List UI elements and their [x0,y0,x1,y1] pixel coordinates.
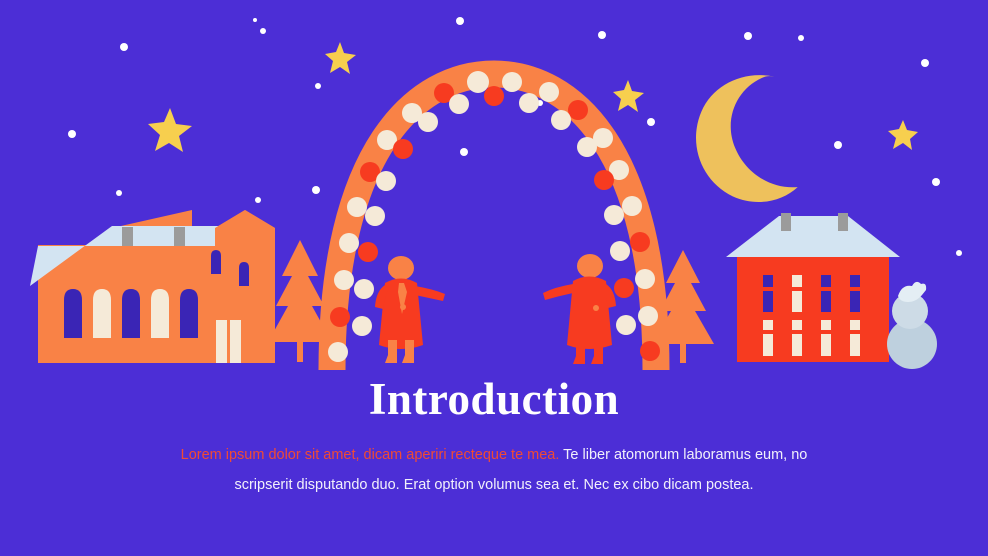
chimney-right-2 [838,213,848,231]
chimney-left-2 [781,213,791,231]
slide-canvas: Introduction Lorem ipsum dolor sit amet,… [0,0,988,556]
illustration-winter-night-village [0,0,988,556]
chimney-right [174,227,185,246]
chimney-left [122,227,133,246]
left-house-door [216,320,227,363]
